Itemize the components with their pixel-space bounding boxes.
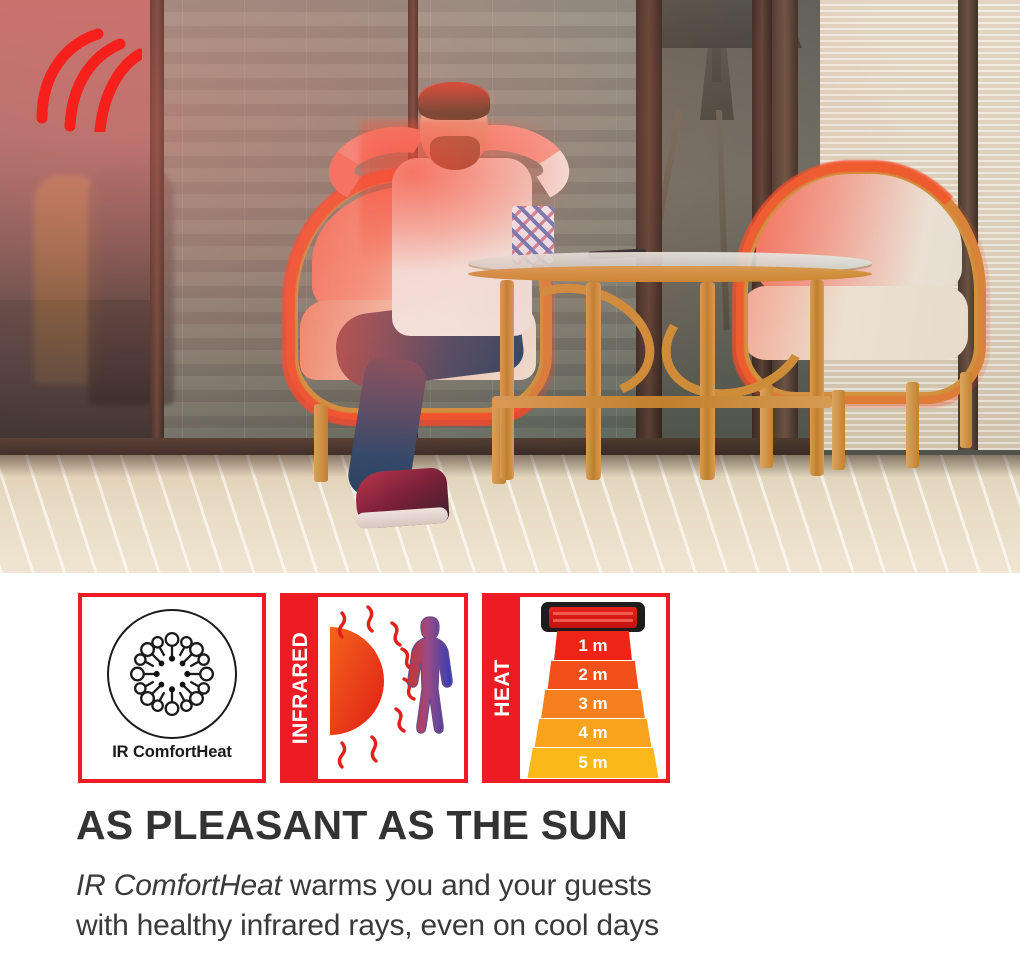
heat-distance-label: 1 m: [578, 636, 607, 656]
heat-distance-band: 5 m: [528, 748, 659, 778]
table-leg-2: [586, 282, 601, 480]
heat-distance-band: 1 m: [554, 631, 632, 661]
heat-distance-label: 4 m: [578, 723, 607, 743]
radial-heat-emitter-icon: [107, 609, 237, 739]
badge-ir-comfortheat-label: IR ComfortHeat: [112, 743, 232, 762]
badge-heat-strip: HEAT: [486, 597, 520, 779]
hero-photo: [0, 0, 1020, 573]
product-marketing-banner: IR ComfortHeat INFRARED: [0, 0, 1020, 969]
badge-infrared: INFRARED: [280, 593, 468, 783]
table-stretcher: [492, 396, 832, 408]
subheadline-line-1: IR ComfortHeat warms you and your guests: [76, 866, 659, 906]
window-mullion-1: [150, 0, 164, 462]
heat-beam: 1 m 2 m 3 m 4 m 5 m: [520, 631, 666, 779]
heat-distance-label: 2 m: [578, 665, 607, 685]
heat-distance-label: 3 m: [578, 694, 607, 714]
sun-and-human-figure-icon: [318, 597, 464, 779]
man-hair-heat-tint: [418, 82, 490, 112]
page-title: AS PLEASANT AS THE SUN: [76, 802, 628, 849]
heater-element: [549, 607, 637, 628]
window-mullion-3: [636, 0, 662, 462]
heat-distance-band: 3 m: [541, 690, 645, 719]
chair-right-leg-2: [832, 390, 845, 470]
subheadline-line-2: with healthy infrared rays, even on cool…: [76, 906, 659, 946]
heat-distance-band: 4 m: [535, 719, 652, 748]
badge-heat-label: HEAT: [491, 659, 515, 717]
infrared-heater-beam-icon: 1 m 2 m 3 m 4 m 5 m: [520, 597, 666, 779]
chair-right-leg-3: [906, 382, 919, 468]
subheadline-rest: warms you and your guests: [282, 869, 652, 902]
subheadline-emphasis: IR ComfortHeat: [76, 869, 282, 902]
table-leg-4: [810, 280, 824, 476]
heat-distance-label: 5 m: [578, 753, 607, 773]
heat-wave-icon: [22, 22, 142, 132]
badge-heat: HEAT 1 m 2 m 3 m 4 m: [482, 593, 670, 783]
heat-distance-band: 2 m: [548, 661, 639, 690]
feature-badges: IR ComfortHeat INFRARED: [78, 593, 670, 783]
subheadline: IR ComfortHeat warms you and your guests…: [76, 866, 659, 945]
badge-infrared-strip: INFRARED: [284, 597, 318, 779]
badge-infrared-label: INFRARED: [289, 632, 313, 745]
badge-ir-comfortheat: IR ComfortHeat: [78, 593, 266, 783]
heater-unit: [541, 602, 645, 632]
table-leg-1: [500, 280, 514, 480]
chair-right-leg-4: [960, 372, 972, 448]
table-leg-3: [700, 282, 715, 480]
